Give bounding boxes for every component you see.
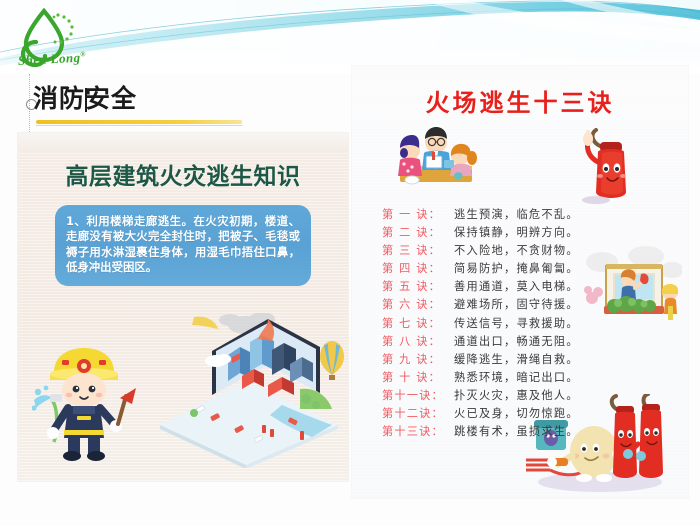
list-item-key: 第 十 诀： (382, 369, 454, 385)
list-item-value: 扑灭火灾，惠及他人。 (454, 387, 579, 403)
list-item: 第 三 诀： 不入险地，不贪财物。 (382, 242, 672, 260)
isometric-city-icon (150, 313, 346, 468)
registered-mark: ® (80, 50, 86, 58)
firefighter-mascot-icon (32, 338, 136, 463)
list-item: 第 四 诀： 简易防护，掩鼻匍匐。 (382, 260, 672, 278)
list-item: 第 九 诀： 缓降逃生，滑绳自救。 (382, 351, 672, 369)
list-item: 第 二 诀： 保持镇静，明辨方向。 (382, 224, 672, 242)
escape-tips-list: 第 一 诀： 逃生预演，临危不乱。 第 二 诀： 保持镇静，明辨方向。 第 三 … (382, 206, 672, 441)
brand-name: Shen Long (18, 50, 81, 68)
list-item-key: 第 六 诀： (382, 296, 454, 312)
list-item: 第 六 诀： 避难场所，固守待援。 (382, 296, 672, 314)
list-item-key: 第 一 诀： (382, 206, 454, 222)
list-item-key: 第 三 诀： (382, 242, 454, 258)
fire-extinguisher-mascot-icon (580, 128, 638, 206)
list-item-key: 第十二诀： (382, 405, 454, 421)
list-item-key: 第 九 诀： (382, 351, 454, 367)
left-panel-title: 高层建筑火灾逃生知识 (18, 157, 348, 191)
title-caret-mark (85, 88, 87, 112)
list-item: 第十二诀： 火已及身，切勿惊跑。 (382, 405, 672, 423)
list-item-value: 不入险地，不贪财物。 (454, 242, 579, 258)
list-item-value: 简易防护，掩鼻匍匐。 (454, 260, 579, 276)
list-item-value: 缓降逃生，滑绳自救。 (454, 351, 579, 367)
right-panel-title: 火场逃生十三诀 (352, 83, 688, 118)
list-item-key: 第 七 诀： (382, 315, 454, 331)
slide-canvas: Shen Long® 消防安全 高层建筑火灾逃生知识 1、利用楼梯走廊逃生。在火… (0, 0, 700, 525)
list-item: 第 十 诀： 熟悉环境，暗记出口。 (382, 369, 672, 387)
list-item: 第 七 诀： 传送信号，寻救援助。 (382, 315, 672, 333)
list-item-key: 第十三诀： (382, 423, 454, 439)
list-item: 第十一诀： 扑灭火灾，惠及他人。 (382, 387, 672, 405)
header-banner (0, 0, 700, 74)
list-item-key: 第 四 诀： (382, 260, 454, 276)
list-item-key: 第 五 诀： (382, 278, 454, 294)
brand-logo: Shen Long® (10, 6, 96, 72)
list-item: 第 八 诀： 通道出口，畅通无阻。 (382, 333, 672, 351)
list-item-key: 第十一诀： (382, 387, 454, 403)
title-underline (36, 120, 242, 124)
left-panel-header-strip (18, 133, 348, 153)
list-item-value: 逃生预演，临危不乱。 (454, 206, 579, 222)
list-item-value: 跳楼有术，虽损求生。 (454, 423, 579, 439)
list-item: 第 一 诀： 逃生预演，临危不乱。 (382, 206, 672, 224)
list-item-value: 善用通道，莫入电梯。 (454, 278, 579, 294)
list-item-value: 熟悉环境，暗记出口。 (454, 369, 579, 385)
left-panel-callout-text: 1、利用楼梯走廊逃生。在火灾初期，楼道、走廊没有被大火完全封住时，把被子、毛毯或… (66, 214, 300, 276)
family-at-table-icon (388, 124, 484, 192)
list-item-key: 第 八 诀： (382, 333, 454, 349)
list-item-key: 第 二 诀： (382, 224, 454, 240)
left-panel-callout: 1、利用楼梯走廊逃生。在火灾初期，楼道、走廊没有被大火完全封住时，把被子、毛毯或… (55, 205, 311, 286)
list-item-value: 通道出口，畅通无阻。 (454, 333, 579, 349)
left-panel: 高层建筑火灾逃生知识 1、利用楼梯走廊逃生。在火灾初期，楼道、走廊没有被大火完全… (18, 133, 348, 481)
title-underline-thin (36, 125, 242, 126)
list-item: 第十三诀： 跳楼有术，虽损求生。 (382, 423, 672, 441)
list-item: 第 五 诀： 善用通道，莫入电梯。 (382, 278, 672, 296)
list-item-value: 传送信号，寻救援助。 (454, 315, 579, 331)
right-panel: 火场逃生十三诀 (352, 66, 688, 498)
list-item-value: 保持镇静，明辨方向。 (454, 224, 579, 240)
list-item-value: 避难场所，固守待援。 (454, 296, 579, 312)
list-item-value: 火已及身，切勿惊跑。 (454, 405, 579, 421)
